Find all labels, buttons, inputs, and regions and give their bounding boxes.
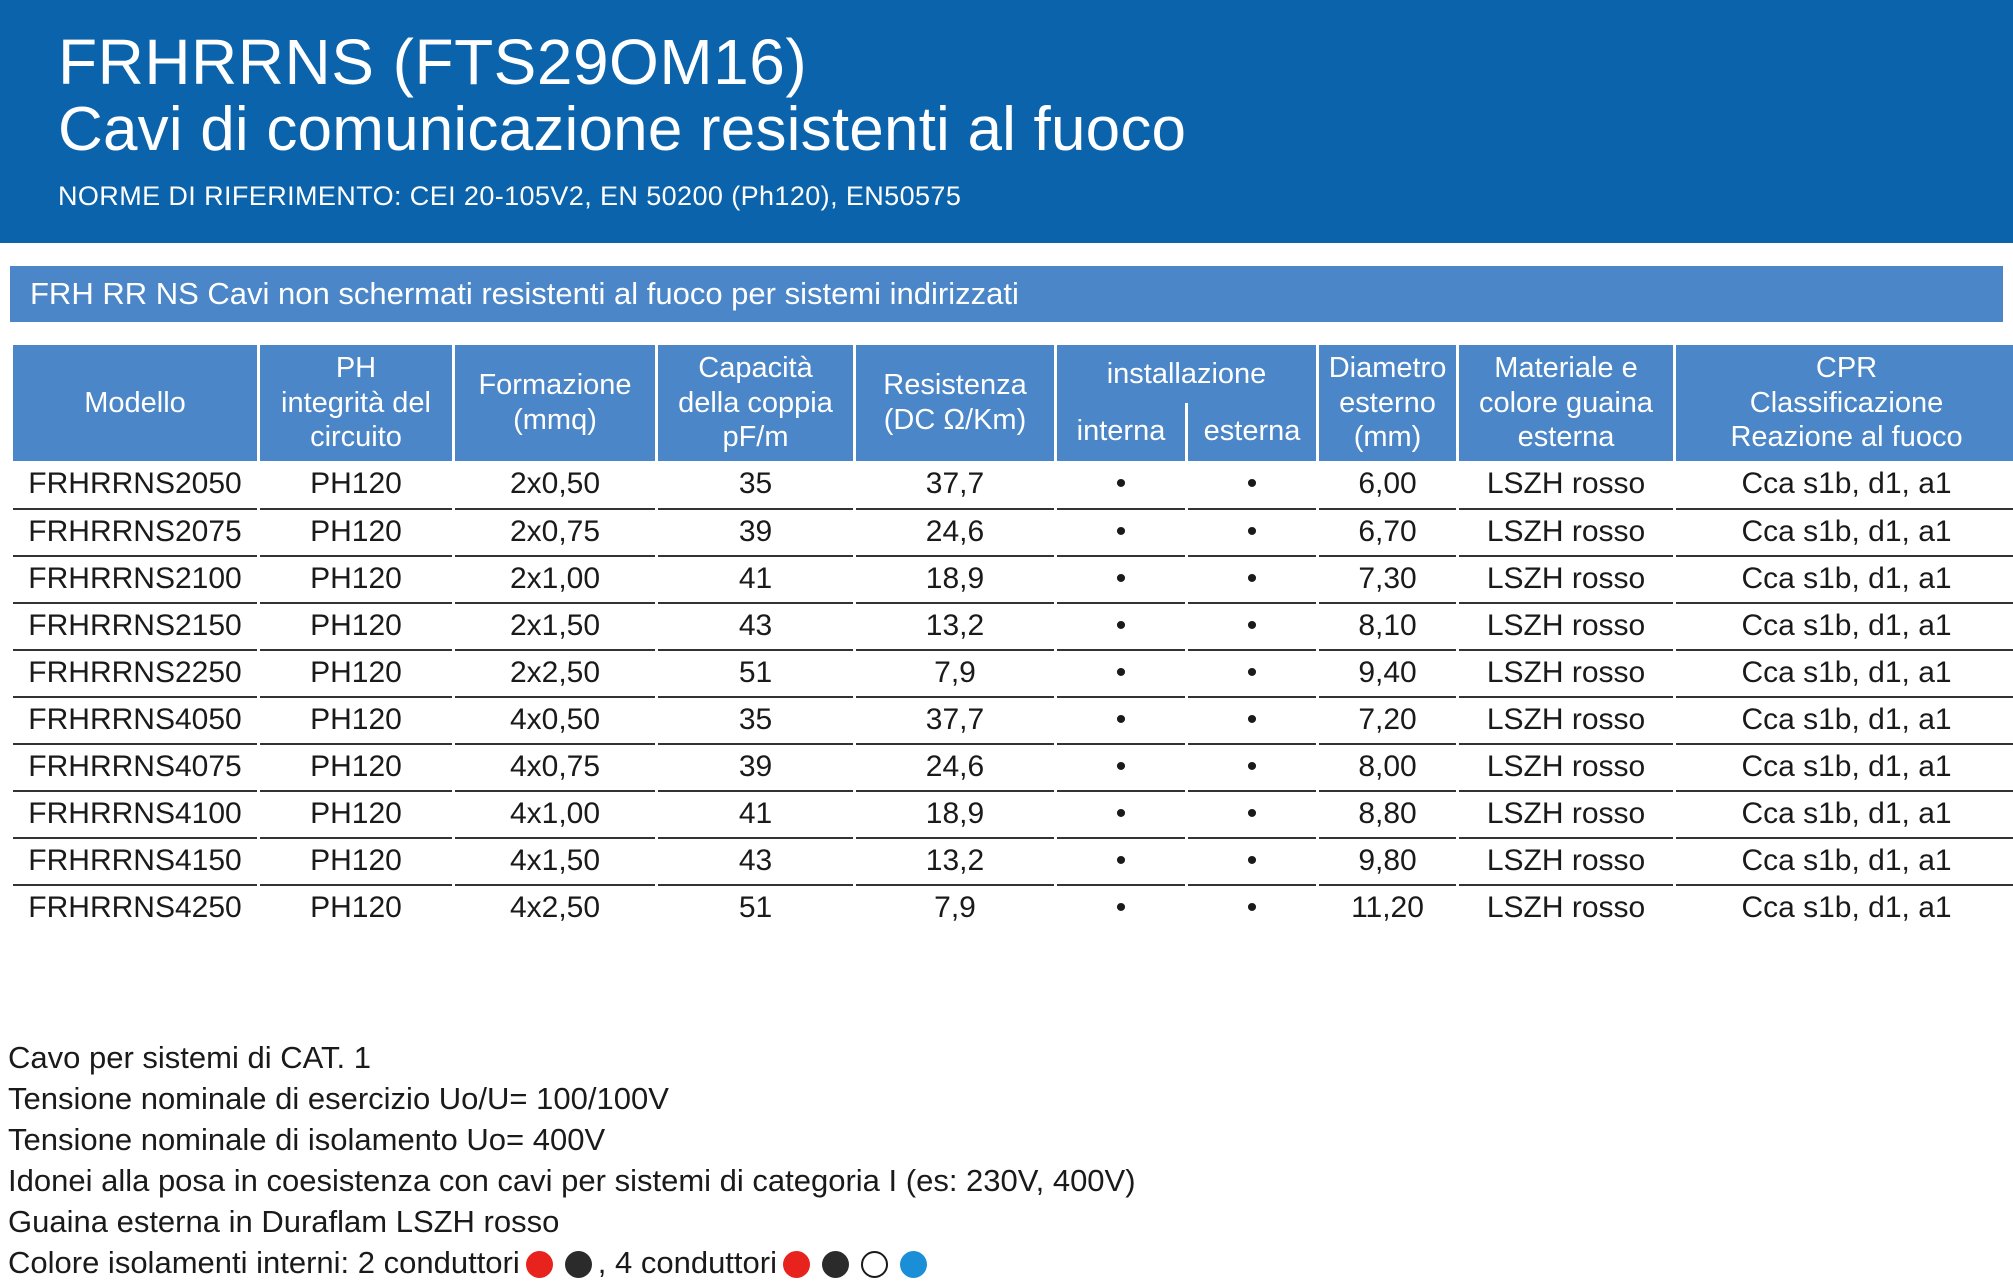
installazione-interna-cell: • <box>1057 790 1185 837</box>
ph-cell: PH120 <box>260 649 452 696</box>
ph-cell: PH120 <box>260 837 452 884</box>
diametro-cell: 6,00 <box>1319 461 1456 508</box>
installazione-interna-cell: • <box>1057 837 1185 884</box>
conductor-4-color-dots <box>777 1243 933 1284</box>
diametro-cell: 11,20 <box>1319 884 1456 931</box>
diametro-cell: 7,30 <box>1319 555 1456 602</box>
cpr-cell: Cca s1b, d1, a1 <box>1676 696 2013 743</box>
model-cell: FRHRRNS2250 <box>13 649 257 696</box>
formazione-cell: 2x0,75 <box>455 508 655 555</box>
cpr-cell: Cca s1b, d1, a1 <box>1676 508 2013 555</box>
materiale-cell: LSZH rosso <box>1459 884 1673 931</box>
cpr-cell: Cca s1b, d1, a1 <box>1676 743 2013 790</box>
note-line-conductor-colors: Colore isolamenti interni: 2 conduttori … <box>8 1243 1998 1284</box>
cpr-line-3: Reazione al fuoco <box>1680 420 2013 455</box>
conductor-4-dot-4 <box>900 1251 927 1278</box>
model-cell: FRHRRNS4150 <box>13 837 257 884</box>
materiale-cell: LSZH rosso <box>1459 602 1673 649</box>
datasheet-page: FRHRRNS (FTS29OM16) Cavi di comunicazion… <box>0 0 2013 1284</box>
conductor-2-dot-1 <box>526 1251 553 1278</box>
capacita-cell: 41 <box>658 790 853 837</box>
diametro-cell: 9,80 <box>1319 837 1456 884</box>
note-line-2: Tensione nominale di esercizio Uo/U= 100… <box>8 1079 1998 1120</box>
formazione-cell: 4x2,50 <box>455 884 655 931</box>
resistenza-cell: 24,6 <box>856 743 1054 790</box>
materiale-line-3: esterna <box>1463 420 1669 455</box>
materiale-cell: LSZH rosso <box>1459 790 1673 837</box>
capacita-cell: 43 <box>658 837 853 884</box>
capacita-line-2: della coppia <box>662 386 849 421</box>
col-header-cpr: CPR Classificazione Reazione al fuoco <box>1676 345 2013 461</box>
model-cell: FRHRRNS4075 <box>13 743 257 790</box>
col-header-resistenza: Resistenza (DC Ω/Km) <box>856 345 1054 461</box>
spec-table: Modello PH integrità del circuito Formaz… <box>10 345 2013 931</box>
note-line-5: Guaina esterna in Duraflam LSZH rosso <box>8 1202 1998 1243</box>
ph-cell: PH120 <box>260 602 452 649</box>
cpr-cell: Cca s1b, d1, a1 <box>1676 602 2013 649</box>
capacita-cell: 39 <box>658 508 853 555</box>
installazione-esterna-cell: • <box>1188 602 1316 649</box>
note-line-4: Idonei alla posa in coesistenza con cavi… <box>8 1161 1998 1202</box>
installazione-esterna-cell: • <box>1188 790 1316 837</box>
cpr-cell: Cca s1b, d1, a1 <box>1676 884 2013 931</box>
cpr-cell: Cca s1b, d1, a1 <box>1676 790 2013 837</box>
resistenza-cell: 18,9 <box>856 790 1054 837</box>
section-bar-label: FRH RR NS Cavi non schermati resistenti … <box>30 276 1019 312</box>
table-row: FRHRRNS2250PH1202x2,50517,9••9,40LSZH ro… <box>13 649 2013 696</box>
diametro-cell: 8,00 <box>1319 743 1456 790</box>
capacita-cell: 51 <box>658 884 853 931</box>
materiale-line-2: colore guaina <box>1463 386 1669 421</box>
installazione-esterna-cell: • <box>1188 508 1316 555</box>
materiale-cell: LSZH rosso <box>1459 743 1673 790</box>
table-row: FRHRRNS2050PH1202x0,503537,7••6,00LSZH r… <box>13 461 2013 508</box>
ph-cell: PH120 <box>260 743 452 790</box>
table-row: FRHRRNS2100PH1202x1,004118,9••7,30LSZH r… <box>13 555 2013 602</box>
table-row: FRHRRNS2075PH1202x0,753924,6••6,70LSZH r… <box>13 508 2013 555</box>
cpr-cell: Cca s1b, d1, a1 <box>1676 837 2013 884</box>
col-header-diametro: Diametro esterno (mm) <box>1319 345 1456 461</box>
spec-table-head: Modello PH integrità del circuito Formaz… <box>13 345 2013 461</box>
formazione-cell: 4x1,00 <box>455 790 655 837</box>
materiale-cell: LSZH rosso <box>1459 555 1673 602</box>
installazione-interna-cell: • <box>1057 602 1185 649</box>
formazione-line-2: (mmq) <box>459 403 651 438</box>
conductor-4-dot-2 <box>822 1251 849 1278</box>
diametro-cell: 7,20 <box>1319 696 1456 743</box>
materiale-cell: LSZH rosso <box>1459 696 1673 743</box>
table-row: FRHRRNS4150PH1204x1,504313,2••9,80LSZH r… <box>13 837 2013 884</box>
capacita-cell: 41 <box>658 555 853 602</box>
resistenza-line-2: (DC Ω/Km) <box>860 403 1050 438</box>
installazione-esterna-cell: • <box>1188 649 1316 696</box>
formazione-cell: 4x0,50 <box>455 696 655 743</box>
model-cell: FRHRRNS2075 <box>13 508 257 555</box>
ph-cell: PH120 <box>260 790 452 837</box>
table-row: FRHRRNS4050PH1204x0,503537,7••7,20LSZH r… <box>13 696 2013 743</box>
model-cell: FRHRRNS2150 <box>13 602 257 649</box>
installazione-esterna-cell: • <box>1188 461 1316 508</box>
resistenza-cell: 24,6 <box>856 508 1054 555</box>
product-title: FRHRRNS (FTS29OM16) <box>58 30 2013 95</box>
ph-cell: PH120 <box>260 508 452 555</box>
model-cell: FRHRRNS4250 <box>13 884 257 931</box>
ph-line-1: PH <box>264 351 448 386</box>
diametro-cell: 9,40 <box>1319 649 1456 696</box>
resistenza-cell: 7,9 <box>856 649 1054 696</box>
installazione-esterna-cell: • <box>1188 743 1316 790</box>
resistenza-cell: 13,2 <box>856 837 1054 884</box>
installazione-interna-cell: • <box>1057 649 1185 696</box>
materiale-cell: LSZH rosso <box>1459 508 1673 555</box>
col-header-installazione: installazione <box>1057 345 1316 403</box>
col-header-installazione-esterna: esterna <box>1188 403 1316 461</box>
formazione-line-1: Formazione <box>459 368 651 403</box>
col-header-capacita: Capacità della coppia pF/m <box>658 345 853 461</box>
installazione-esterna-cell: • <box>1188 884 1316 931</box>
formazione-cell: 4x1,50 <box>455 837 655 884</box>
resistenza-cell: 7,9 <box>856 884 1054 931</box>
reference-norms: NORME DI RIFERIMENTO: CEI 20-105V2, EN 5… <box>58 181 2013 212</box>
header-banner: FRHRRNS (FTS29OM16) Cavi di comunicazion… <box>0 0 2013 243</box>
capacita-cell: 43 <box>658 602 853 649</box>
table-row: FRHRRNS4100PH1204x1,004118,9••8,80LSZH r… <box>13 790 2013 837</box>
conductor-4-dot-1 <box>783 1251 810 1278</box>
footnotes: Cavo per sistemi di CAT. 1 Tensione nomi… <box>8 1038 1998 1283</box>
resistenza-cell: 13,2 <box>856 602 1054 649</box>
installazione-esterna-cell: • <box>1188 696 1316 743</box>
installazione-interna-cell: • <box>1057 743 1185 790</box>
capacita-cell: 35 <box>658 696 853 743</box>
resistenza-cell: 37,7 <box>856 696 1054 743</box>
conductor-2-color-dots <box>520 1243 598 1284</box>
col-header-installazione-interna: interna <box>1057 403 1185 461</box>
installazione-interna-cell: • <box>1057 555 1185 602</box>
table-row: FRHRRNS4250PH1204x2,50517,9••11,20LSZH r… <box>13 884 2013 931</box>
ph-cell: PH120 <box>260 696 452 743</box>
formazione-cell: 2x2,50 <box>455 649 655 696</box>
formazione-cell: 4x0,75 <box>455 743 655 790</box>
diametro-cell: 6,70 <box>1319 508 1456 555</box>
materiale-line-1: Materiale e <box>1463 351 1669 386</box>
note-line-1: Cavo per sistemi di CAT. 1 <box>8 1038 1998 1079</box>
cpr-cell: Cca s1b, d1, a1 <box>1676 461 2013 508</box>
materiale-cell: LSZH rosso <box>1459 461 1673 508</box>
installazione-interna-cell: • <box>1057 461 1185 508</box>
formazione-cell: 2x0,50 <box>455 461 655 508</box>
col-header-materiale: Materiale e colore guaina esterna <box>1459 345 1673 461</box>
col-header-modello: Modello <box>13 345 257 461</box>
header-row: Modello PH integrità del circuito Formaz… <box>13 345 2013 403</box>
spec-table-body: FRHRRNS2050PH1202x0,503537,7••6,00LSZH r… <box>13 461 2013 931</box>
materiale-cell: LSZH rosso <box>1459 649 1673 696</box>
table-row: FRHRRNS4075PH1204x0,753924,6••8,00LSZH r… <box>13 743 2013 790</box>
section-bar: FRH RR NS Cavi non schermati resistenti … <box>10 266 2003 322</box>
diametro-line-2: esterno <box>1323 386 1452 421</box>
formazione-cell: 2x1,50 <box>455 602 655 649</box>
installazione-interna-cell: • <box>1057 508 1185 555</box>
resistenza-line-1: Resistenza <box>860 368 1050 403</box>
diametro-cell: 8,80 <box>1319 790 1456 837</box>
model-cell: FRHRRNS2050 <box>13 461 257 508</box>
ph-line-2: integrità del <box>264 386 448 421</box>
installazione-interna-cell: • <box>1057 696 1185 743</box>
ph-cell: PH120 <box>260 884 452 931</box>
spec-table-container: Modello PH integrità del circuito Formaz… <box>10 345 2003 931</box>
installazione-esterna-cell: • <box>1188 837 1316 884</box>
formazione-cell: 2x1,00 <box>455 555 655 602</box>
installazione-esterna-cell: • <box>1188 555 1316 602</box>
model-cell: FRHRRNS2100 <box>13 555 257 602</box>
product-subtitle: Cavi di comunicazione resistenti al fuoc… <box>58 97 2013 163</box>
materiale-cell: LSZH rosso <box>1459 837 1673 884</box>
capacita-line-3: pF/m <box>662 420 849 455</box>
conductor-2-dot-2 <box>565 1251 592 1278</box>
capacita-cell: 51 <box>658 649 853 696</box>
capacita-line-1: Capacità <box>662 351 849 386</box>
col-header-ph: PH integrità del circuito <box>260 345 452 461</box>
installazione-interna-cell: • <box>1057 884 1185 931</box>
cpr-cell: Cca s1b, d1, a1 <box>1676 649 2013 696</box>
ph-line-3: circuito <box>264 420 448 455</box>
diametro-line-3: (mm) <box>1323 420 1452 455</box>
table-row: FRHRRNS2150PH1202x1,504313,2••8,10LSZH r… <box>13 602 2013 649</box>
capacita-cell: 35 <box>658 461 853 508</box>
conductor-colors-middle: , 4 conduttori <box>598 1243 777 1284</box>
ph-cell: PH120 <box>260 461 452 508</box>
resistenza-cell: 18,9 <box>856 555 1054 602</box>
model-cell: FRHRRNS4100 <box>13 790 257 837</box>
cpr-cell: Cca s1b, d1, a1 <box>1676 555 2013 602</box>
conductor-colors-prefix: Colore isolamenti interni: 2 conduttori <box>8 1243 520 1284</box>
cpr-line-2: Classificazione <box>1680 386 2013 421</box>
capacita-cell: 39 <box>658 743 853 790</box>
col-header-formazione: Formazione (mmq) <box>455 345 655 461</box>
diametro-line-1: Diametro <box>1323 351 1452 386</box>
resistenza-cell: 37,7 <box>856 461 1054 508</box>
model-cell: FRHRRNS4050 <box>13 696 257 743</box>
cpr-line-1: CPR <box>1680 351 2013 386</box>
ph-cell: PH120 <box>260 555 452 602</box>
diametro-cell: 8,10 <box>1319 602 1456 649</box>
note-line-3: Tensione nominale di isolamento Uo= 400V <box>8 1120 1998 1161</box>
conductor-4-dot-3 <box>861 1251 888 1278</box>
